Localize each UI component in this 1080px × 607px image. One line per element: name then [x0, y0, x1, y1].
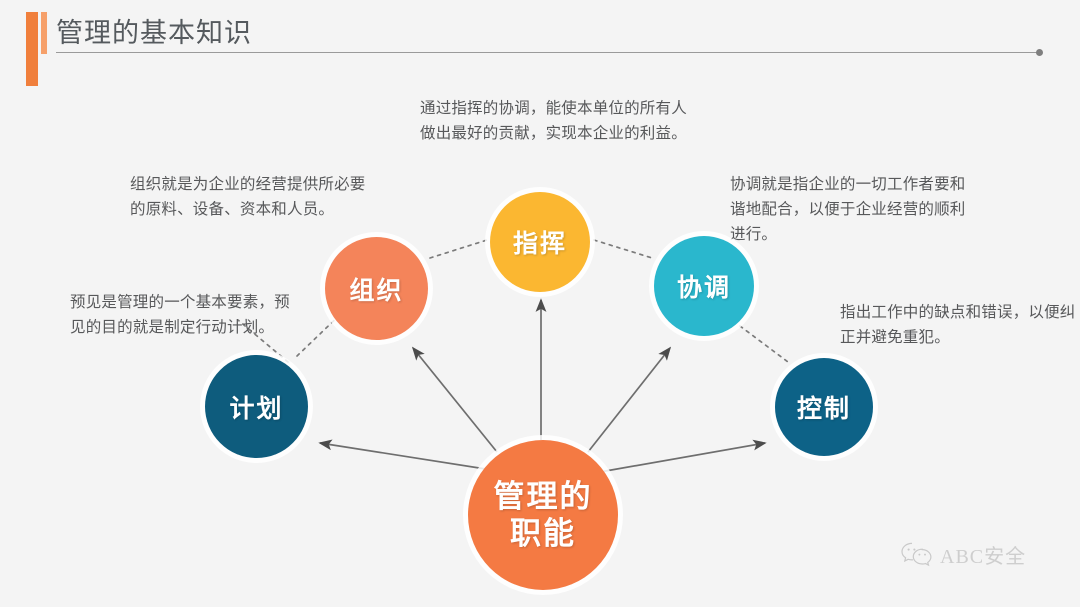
wechat-icon [900, 541, 934, 569]
arrow-center-to-plan [320, 443, 492, 470]
node-plan[interactable]: 计划 [205, 355, 308, 458]
note-plan: 预见是管理的一个基本要素，预见的目的就是制定行动计划。 [70, 290, 300, 340]
dotted-connector-organize-to-command [430, 240, 487, 258]
dotted-connector-coordinate-to-control [740, 326, 788, 362]
node-command[interactable]: 指挥 [490, 192, 590, 292]
node-control-label: 控制 [797, 389, 851, 425]
node-center-label: 管理的 职能 [494, 478, 593, 552]
note-organize: 组织就是为企业的经营提供所必要的原料、设备、资本和人员。 [130, 172, 380, 222]
note-command: 通过指挥的协调，能使本单位的所有人做出最好的贡献，实现本企业的利益。 [420, 96, 690, 146]
node-plan-label: 计划 [229, 389, 283, 425]
dotted-connector-command-to-coordinate [594, 240, 652, 258]
arrow-center-to-control [600, 443, 765, 472]
node-control[interactable]: 控制 [775, 358, 873, 456]
node-center-management-functions[interactable]: 管理的 职能 [468, 440, 618, 590]
arrow-center-to-organize [413, 348, 497, 452]
node-coordinate[interactable]: 协调 [654, 236, 754, 336]
slide-canvas: 管理的基本知识 [0, 0, 1080, 607]
note-coordinate: 协调就是指企业的一切工作者要和谐地配合，以便于企业经营的顺利进行。 [730, 172, 980, 247]
arrow-center-to-coordinate [588, 348, 670, 452]
note-control: 指出工作中的缺点和错误，以便纠正并避免重犯。 [840, 300, 1080, 350]
node-center-label-line2: 职能 [510, 516, 576, 551]
node-center-label-line1: 管理的 [494, 479, 593, 514]
watermark: ABC安全 [900, 540, 1026, 569]
watermark-label: ABC安全 [940, 540, 1026, 569]
node-organize-label: 组织 [349, 271, 403, 307]
node-coordinate-label: 协调 [677, 268, 731, 304]
node-organize[interactable]: 组织 [325, 237, 428, 340]
node-command-label: 指挥 [513, 224, 567, 260]
